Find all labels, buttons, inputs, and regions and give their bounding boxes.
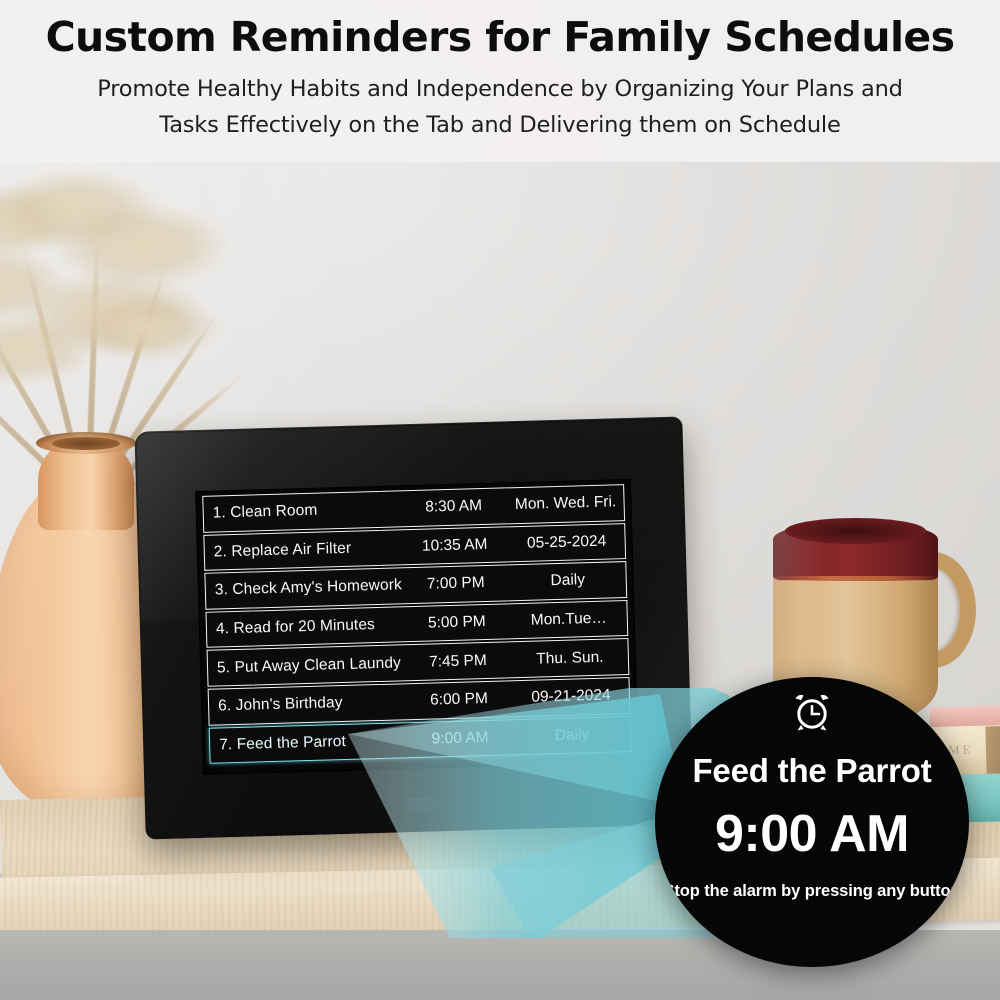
schedule-row-task: 1. Clean Room xyxy=(203,500,399,523)
tablet-screen[interactable]: 1. Clean Room8:30 AMMon. Wed. Fri.2. Rep… xyxy=(196,480,638,774)
schedule-row-recurrence: Mon.Tue… xyxy=(511,609,627,630)
schedule-row-recurrence: Daily xyxy=(514,725,630,746)
schedule-row-recurrence: 09-21-2024 xyxy=(513,686,629,707)
schedule-row-task: 2. Replace Air Filter xyxy=(205,538,401,561)
schedule-row-task: 7. Feed the Parrot xyxy=(210,731,406,754)
alarm-callout-circle: Feed the Parrot 9:00 AM Stop the alarm b… xyxy=(655,677,969,967)
schedule-row-recurrence: Daily xyxy=(510,571,626,592)
schedule-row-time: 8:30 AM xyxy=(399,497,507,518)
schedule-row-task: 6. John's Birthday xyxy=(209,693,405,716)
home-button[interactable] xyxy=(403,797,437,811)
page-title: Custom Reminders for Family Schedules xyxy=(0,13,1000,61)
schedule-row-recurrence: 05-25-2024 xyxy=(508,532,624,553)
schedule-row-task: 5. Put Away Clean Laundy xyxy=(208,654,404,677)
marketing-header-band: Custom Reminders for Family Schedules Pr… xyxy=(0,0,1000,162)
schedule-row-time: 7:45 PM xyxy=(404,651,512,672)
schedule-list[interactable]: 1. Clean Room8:30 AMMon. Wed. Fri.2. Rep… xyxy=(202,484,631,766)
callout-time: 9:00 AM xyxy=(715,804,909,864)
mug-interior xyxy=(785,518,926,544)
schedule-row-time: 9:00 AM xyxy=(406,728,514,749)
schedule-row-time: 6:00 PM xyxy=(405,690,513,711)
page-subtitle: Promote Healthy Habits and Independence … xyxy=(0,71,1000,144)
callout-title: Feed the Parrot xyxy=(692,752,931,790)
schedule-row-task: 3. Check Amy's Homework xyxy=(206,577,402,600)
schedule-row-time: 10:35 AM xyxy=(400,535,508,556)
reminder-tablet-device[interactable]: 1. Clean Room8:30 AMMon. Wed. Fri.2. Rep… xyxy=(134,416,693,839)
schedule-row-task: 4. Read for 20 Minutes xyxy=(207,615,403,638)
callout-instruction: Stop the alarm by pressing any button xyxy=(663,882,960,901)
schedule-row-recurrence: Thu. Sun. xyxy=(512,648,628,669)
page-subtitle-line-2: Tasks Effectively on the Tab and Deliver… xyxy=(26,107,974,143)
schedule-row-recurrence: Mon. Wed. Fri. xyxy=(507,493,623,514)
mug-accent-line xyxy=(775,576,936,581)
page-subtitle-line-1: Promote Healthy Habits and Independence … xyxy=(26,71,974,107)
schedule-row-time: 5:00 PM xyxy=(403,612,511,633)
alarm-clock-icon xyxy=(790,691,834,740)
vase-opening xyxy=(52,437,120,450)
schedule-row-time: 7:00 PM xyxy=(402,574,510,595)
